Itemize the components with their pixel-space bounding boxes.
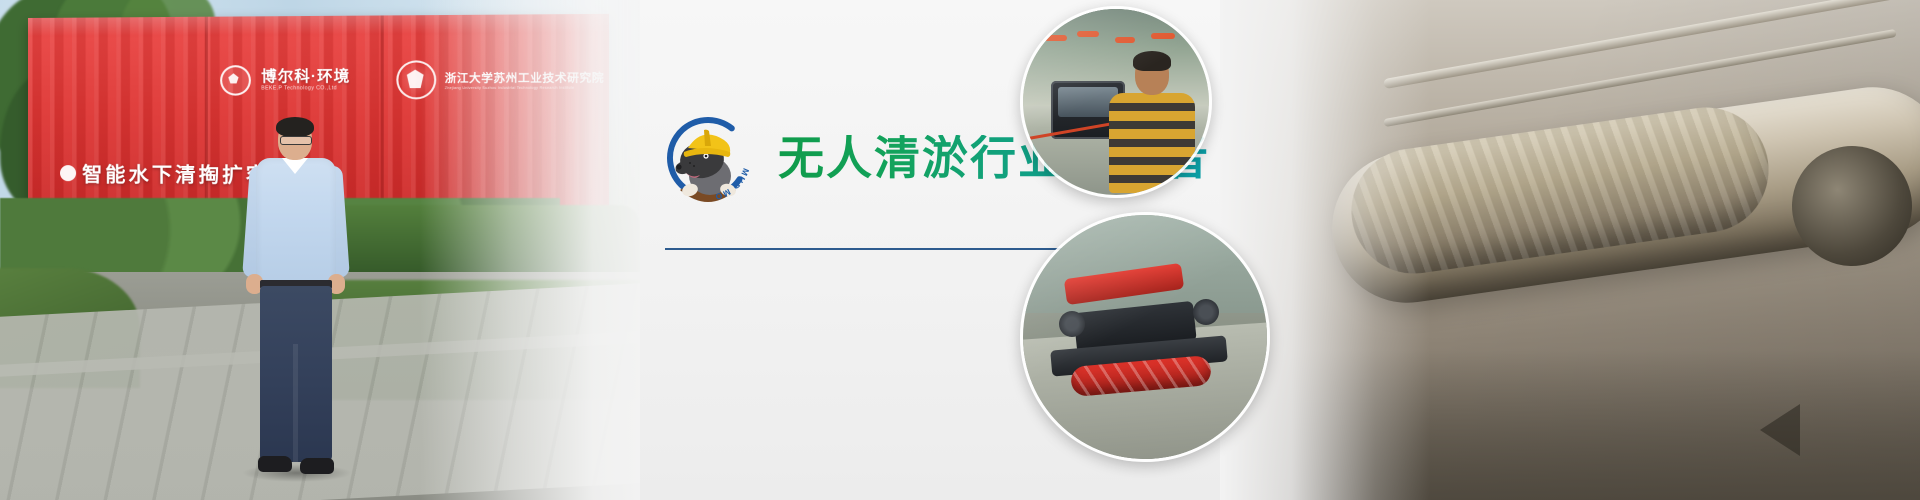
flow-arrow-icon [1760,404,1800,456]
container-partner-en: Zhejiang University Suzhou Industrial Te… [445,86,604,91]
operator-control-unit-photo [1020,6,1212,198]
left-photo: 博尔科·环境 BEKE.P Technology CO.,Ltd 浙江大学苏州工… [0,0,640,500]
dredging-robot-photo [1020,212,1270,462]
mud-mole-logo: MUD MOLE [660,110,756,206]
container-partner-block: 浙江大学苏州工业技术研究院 Zhejiang University Suzhou… [396,60,604,100]
worker-shirt [1109,93,1195,193]
brand-mark-icon [220,65,251,96]
water-surface [1220,350,1920,500]
slogan-badge-icon [60,165,76,181]
container-brand-block: 博尔科·环境 BEKE.P Technology CO.,Ltd [220,65,350,96]
container-brand-en: BEKE.P Technology CO.,Ltd [261,85,350,91]
container-partner-cn: 浙江大学苏州工业技术研究院 [445,69,604,86]
university-seal-icon [396,60,436,99]
eyeglasses-icon [280,136,312,145]
worker-hair [1133,51,1171,71]
right-photo-group [1220,0,1920,500]
person-portrait [236,120,356,500]
container-brand-cn: 博尔科·环境 [261,69,350,85]
hero-banner: 博尔科·环境 BEKE.P Technology CO.,Ltd 浙江大学苏州工… [0,0,1920,500]
sludge-discharge-pipe-photo [1220,0,1920,500]
